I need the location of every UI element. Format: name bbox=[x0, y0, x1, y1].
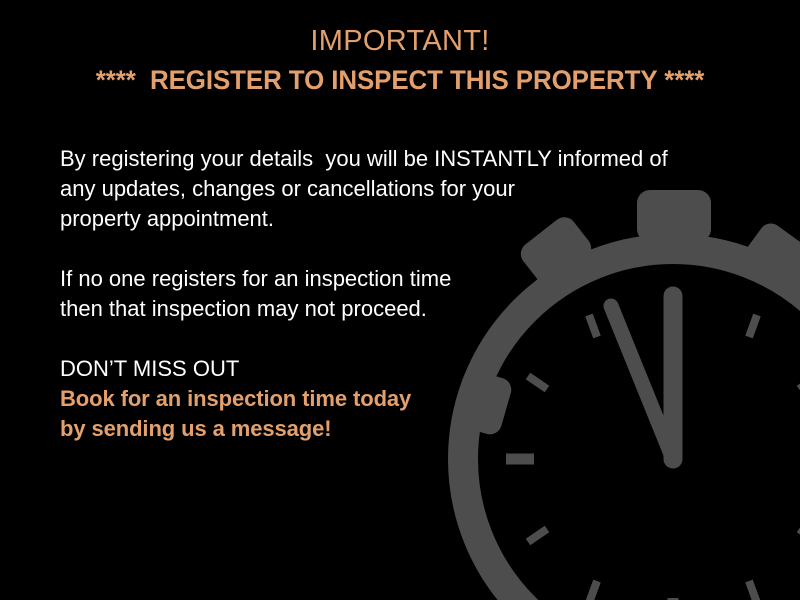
paragraph2-line2: then that inspection may not proceed. bbox=[60, 294, 720, 324]
cta-send-message: by sending us a message! bbox=[60, 414, 720, 444]
paragraph-no-registration-warning: If no one registers for an inspection ti… bbox=[60, 264, 720, 324]
paragraph-call-to-action: DON’T MISS OUT Book for an inspection ti… bbox=[60, 354, 720, 444]
heading-important: IMPORTANT! bbox=[0, 22, 800, 60]
paragraph1-line2: any updates, changes or cancellations fo… bbox=[60, 174, 720, 204]
cta-book-inspection: Book for an inspection time today bbox=[60, 384, 720, 414]
heading-block: IMPORTANT! **** REGISTER TO INSPECT THIS… bbox=[0, 22, 800, 100]
paragraph2-line1: If no one registers for an inspection ti… bbox=[60, 264, 720, 294]
paragraph1-line1: By registering your details you will be … bbox=[60, 144, 720, 174]
heading-register-to-inspect: **** REGISTER TO INSPECT THIS PROPERTY *… bbox=[16, 60, 784, 100]
cta-dont-miss-out: DON’T MISS OUT bbox=[60, 354, 720, 384]
promotional-slide: IMPORTANT! **** REGISTER TO INSPECT THIS… bbox=[0, 0, 800, 600]
body-copy: By registering your details you will be … bbox=[60, 144, 720, 444]
paragraph-registering-benefits: By registering your details you will be … bbox=[60, 144, 720, 234]
paragraph1-line3: property appointment. bbox=[60, 204, 720, 234]
